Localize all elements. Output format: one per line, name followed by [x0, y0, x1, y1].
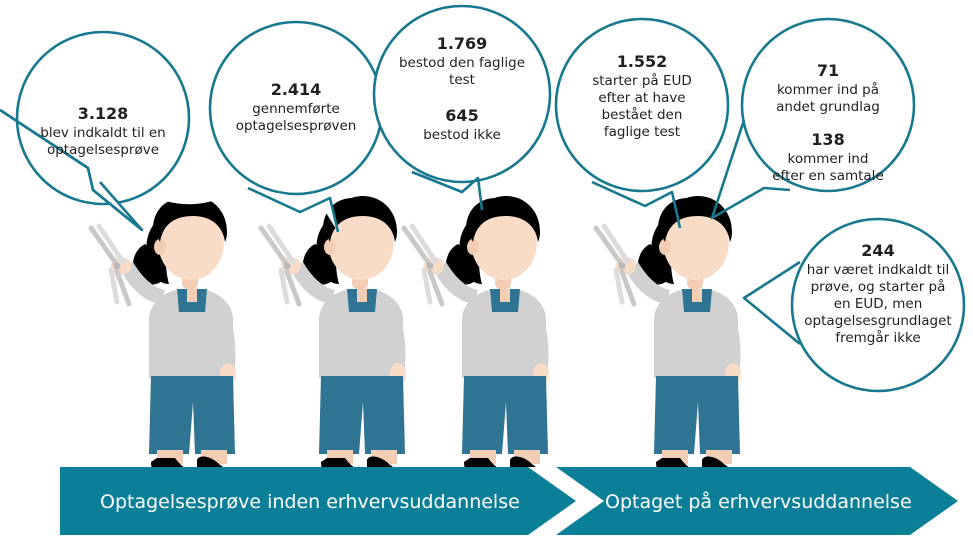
bubble-4-line-2: bestået den: [602, 106, 683, 123]
bubble-5-second-number: 138: [811, 130, 844, 149]
bubble-5-second-line-1: efter en samtale: [772, 168, 884, 184]
process-banner: Optagelsesprøve inden erhvervsuddannelse…: [60, 467, 958, 535]
bubble-5-line-1: andet grundlag: [776, 99, 880, 115]
bubble-1-line-0: blev indkaldt til en: [40, 125, 166, 141]
bubble-6-line-1: prøve, og starter på: [811, 278, 946, 295]
bubble-6-line-2: en EUD, men: [834, 296, 923, 312]
bubble-4-line-0: starter på EUD: [592, 72, 692, 89]
bubble-5-second-line-0: kommer ind: [788, 151, 869, 167]
bubble-4-number: 1.552: [617, 52, 668, 71]
figure-4: [596, 196, 741, 485]
bubble-uoplyst: 244 har været indkaldt til prøve, og sta…: [744, 219, 964, 391]
banner-left-label: Optagelsesprøve inden erhvervsuddannelse: [100, 491, 520, 513]
infographic-svg: 3.128 blev indkaldt til en optagelsesprø…: [0, 0, 973, 544]
bubble-4-line-3: faglige test: [604, 124, 680, 140]
figure-1: [91, 196, 236, 485]
bubble-3-second-line-0: bestod ikke: [423, 127, 501, 143]
bubble-4-line-1: efter at have: [598, 90, 685, 106]
bubble-andet-grundlag: 71 kommer ind på andet grundlag 138 komm…: [712, 19, 914, 218]
bubble-6-line-4: fremgår ikke: [835, 329, 920, 346]
bubble-3-line-0: bestod den faglige: [399, 55, 525, 71]
bubble-6-line-3: optagelsesgrundlaget: [804, 313, 951, 329]
bubble-1-line-1: optagelsesprøve: [47, 142, 159, 158]
bubble-2-line-0: gennemførte: [252, 101, 340, 117]
bubble-2-number: 2.414: [271, 80, 322, 99]
bubble-6-line-0: har været indkaldt til: [807, 262, 950, 278]
bubble-3-second-number: 645: [445, 106, 478, 125]
banner-right-label: Optaget på erhvervsuddannelse: [605, 490, 912, 513]
bubble-1-number: 3.128: [78, 104, 129, 123]
bubble-bestod: 1.769 bestod den faglige test 645 bestod…: [374, 6, 550, 210]
bubble-5-number: 71: [817, 61, 839, 80]
bubble-3-number: 1.769: [437, 34, 488, 53]
bubble-2-line-1: optagelsesprøven: [236, 118, 357, 134]
bubble-5-line-0: kommer ind på: [777, 81, 879, 98]
figure-3: [404, 196, 549, 485]
bubble-3-line-1: test: [449, 72, 475, 88]
bubble-6-number: 244: [861, 241, 894, 260]
infographic-canvas: 3.128 blev indkaldt til en optagelsesprø…: [0, 0, 973, 544]
figure-2: [261, 196, 406, 485]
